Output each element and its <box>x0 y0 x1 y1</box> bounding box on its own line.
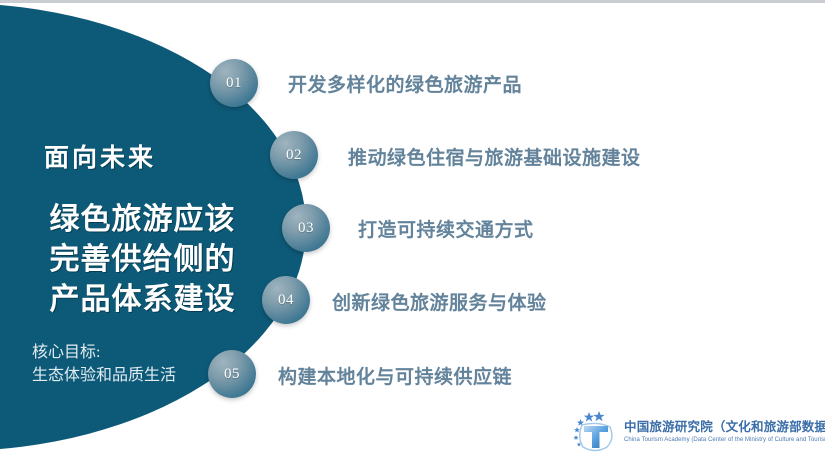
logo-name-en: China Tourism Academy (Data Center of th… <box>624 437 825 443</box>
subtitle-line-1: 核心目标: <box>32 342 176 365</box>
headline-line-2: 完善供给侧的 <box>30 240 255 280</box>
logo-text-block: 中国旅游研究院（文化和旅游部数据中心） China Tourism Academ… <box>624 416 825 443</box>
headline-line-3: 产品体系建设 <box>30 280 255 320</box>
step-label: 创新绿色旅游服务与体验 <box>332 288 547 315</box>
step-label: 构建本地化与可持续供应链 <box>278 362 512 389</box>
page-title: 绿色旅游应该 完善供给侧的 产品体系建设 <box>30 200 255 321</box>
step-number-label: 04 <box>278 292 294 309</box>
slide-canvas: 面向未来 绿色旅游应该 完善供给侧的 产品体系建设 核心目标: 生态体验和品质生… <box>0 0 825 456</box>
tourism-academy-emblem-icon <box>568 406 620 452</box>
eyebrow-text: 面向未来 <box>44 138 156 174</box>
step-label: 开发多样化的绿色旅游产品 <box>288 70 522 97</box>
organization-logo: 中国旅游研究院（文化和旅游部数据中心） China Tourism Academ… <box>568 406 822 452</box>
step-number-badge: 05 <box>208 350 256 398</box>
headline-line-1: 绿色旅游应该 <box>30 200 255 240</box>
step-number-label: 02 <box>286 147 302 164</box>
step-number-badge: 01 <box>210 59 258 107</box>
logo-name-cn: 中国旅游研究院（文化和旅游部数据中心） <box>624 416 825 435</box>
step-label: 推动绿色住宿与旅游基础设施建设 <box>348 143 641 170</box>
step-number-badge: 04 <box>262 276 310 324</box>
step-label: 打造可持续交通方式 <box>358 215 534 242</box>
step-number-label: 05 <box>224 366 240 383</box>
step-number-badge: 03 <box>282 204 330 252</box>
step-number-label: 01 <box>226 75 242 92</box>
step-number-label: 03 <box>298 220 314 237</box>
subtitle-line-2: 生态体验和品质生活 <box>32 365 176 388</box>
step-number-badge: 02 <box>270 131 318 179</box>
subtitle-block: 核心目标: 生态体验和品质生活 <box>32 342 176 387</box>
